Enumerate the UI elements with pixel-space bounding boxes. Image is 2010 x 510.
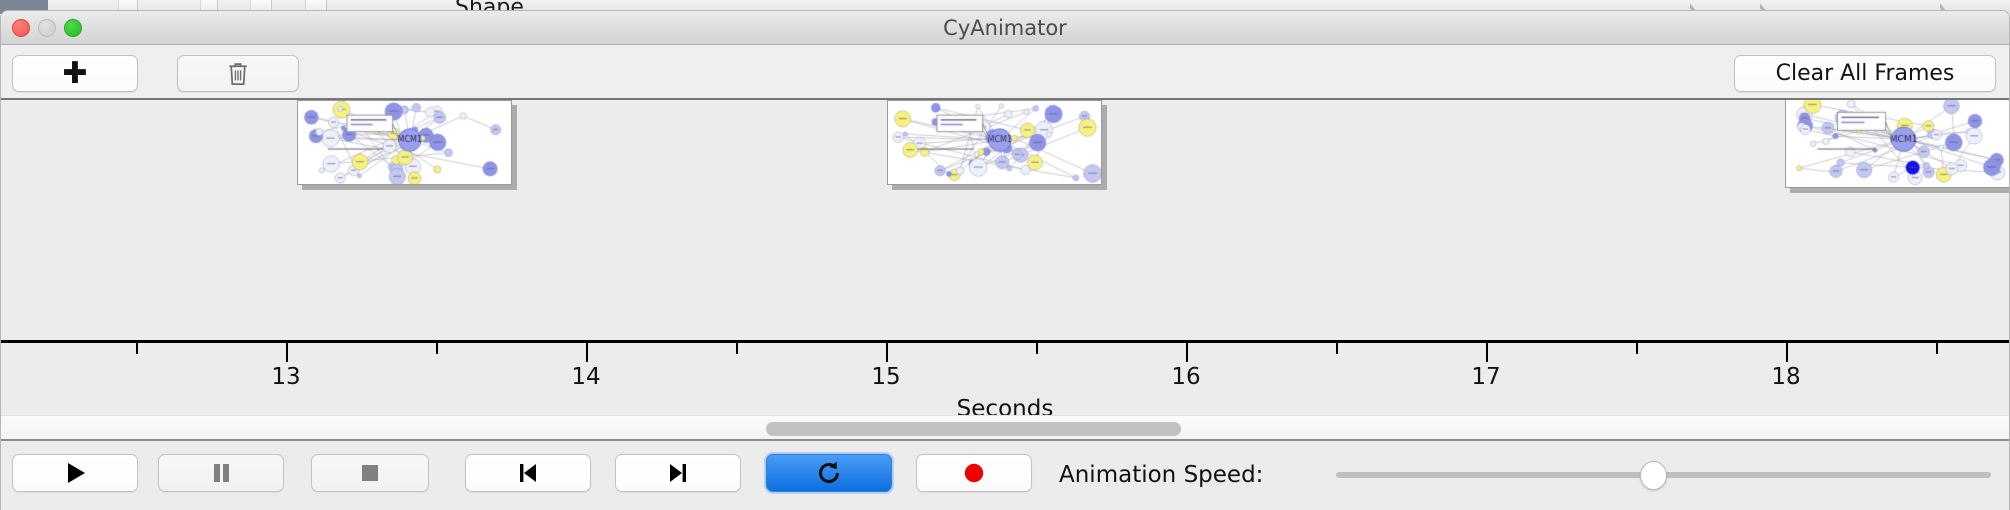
window-title: CyAnimator bbox=[1, 16, 2009, 40]
play-button[interactable] bbox=[12, 454, 138, 492]
stop-button[interactable] bbox=[311, 454, 429, 492]
loop-icon bbox=[815, 459, 843, 487]
ruler-tick-minor bbox=[1636, 343, 1638, 354]
ruler-tick-label: 18 bbox=[1771, 364, 1800, 390]
ruler-tick-minor bbox=[1036, 343, 1038, 354]
cyanimator-window: CyAnimator ✚ Clear All Frames bbox=[0, 10, 2010, 510]
play-icon bbox=[62, 460, 88, 486]
skip-start-button[interactable] bbox=[465, 454, 591, 492]
ruler-tick-major bbox=[886, 343, 888, 362]
ruler-tick-major bbox=[1786, 343, 1788, 362]
clear-all-frames-label: Clear All Frames bbox=[1776, 61, 1955, 86]
timeline-frame-thumbnail[interactable] bbox=[1785, 100, 2009, 188]
clear-all-frames-button[interactable]: Clear All Frames bbox=[1734, 55, 1996, 92]
frame-thumbnails bbox=[1, 100, 2009, 340]
animation-speed-slider-thumb[interactable] bbox=[1640, 461, 1667, 490]
network-graph-preview bbox=[888, 101, 1101, 184]
network-graph-preview bbox=[298, 101, 511, 184]
network-graph-preview bbox=[1786, 100, 2009, 187]
ruler-tick-label: 17 bbox=[1471, 364, 1500, 390]
ruler-tick-minor bbox=[736, 343, 738, 354]
timeline-panel[interactable]: 12131415161718 Seconds bbox=[1, 100, 2009, 415]
playback-toolbar: Animation Speed: bbox=[1, 441, 2009, 504]
timeline-scrollbar-thumb[interactable] bbox=[766, 422, 1181, 436]
ruler-tick-minor bbox=[436, 343, 438, 354]
ruler-tick-label: 14 bbox=[571, 364, 600, 390]
delete-frame-button[interactable] bbox=[177, 55, 299, 92]
timeline-frame-thumbnail[interactable] bbox=[887, 100, 1102, 185]
loop-button[interactable] bbox=[766, 454, 892, 492]
cyanimator-app: Shape CyAnimator ✚ bbox=[0, 0, 2010, 510]
plus-icon: ✚ bbox=[62, 59, 87, 89]
trash-icon bbox=[227, 61, 249, 87]
skip-end-icon bbox=[665, 460, 691, 486]
ruler-tick-label: 13 bbox=[271, 364, 300, 390]
record-icon bbox=[961, 460, 987, 486]
ruler-tick-minor bbox=[136, 343, 138, 354]
ruler-tick-major bbox=[586, 343, 588, 362]
ruler-tick-major bbox=[1486, 343, 1488, 362]
pause-button[interactable] bbox=[158, 454, 284, 492]
ruler-baseline bbox=[1, 340, 2009, 343]
ruler-tick-major bbox=[286, 343, 288, 362]
window-titlebar[interactable]: CyAnimator bbox=[1, 11, 2009, 45]
skip-end-button[interactable] bbox=[615, 454, 741, 492]
add-frame-button[interactable]: ✚ bbox=[12, 55, 138, 92]
frame-toolbar: ✚ Clear All Frames bbox=[1, 45, 2009, 100]
ruler-tick-major bbox=[1186, 343, 1188, 362]
ruler-tick-label: 16 bbox=[1171, 364, 1200, 390]
timeline-frame-thumbnail[interactable] bbox=[297, 100, 512, 185]
timeline-ruler: 12131415161718 Seconds bbox=[1, 340, 2009, 415]
pause-icon bbox=[208, 460, 234, 486]
ruler-tick-minor bbox=[1936, 343, 1938, 354]
timeline-scrollbar[interactable] bbox=[1, 415, 2009, 441]
ruler-tick-label: 15 bbox=[871, 364, 900, 390]
ruler-axis-title: Seconds bbox=[1, 396, 2009, 415]
skip-start-icon bbox=[515, 460, 541, 486]
ruler-tick-minor bbox=[1336, 343, 1338, 354]
animation-speed-label: Animation Speed: bbox=[1059, 462, 1263, 488]
stop-icon bbox=[357, 460, 383, 486]
record-button[interactable] bbox=[916, 454, 1032, 492]
